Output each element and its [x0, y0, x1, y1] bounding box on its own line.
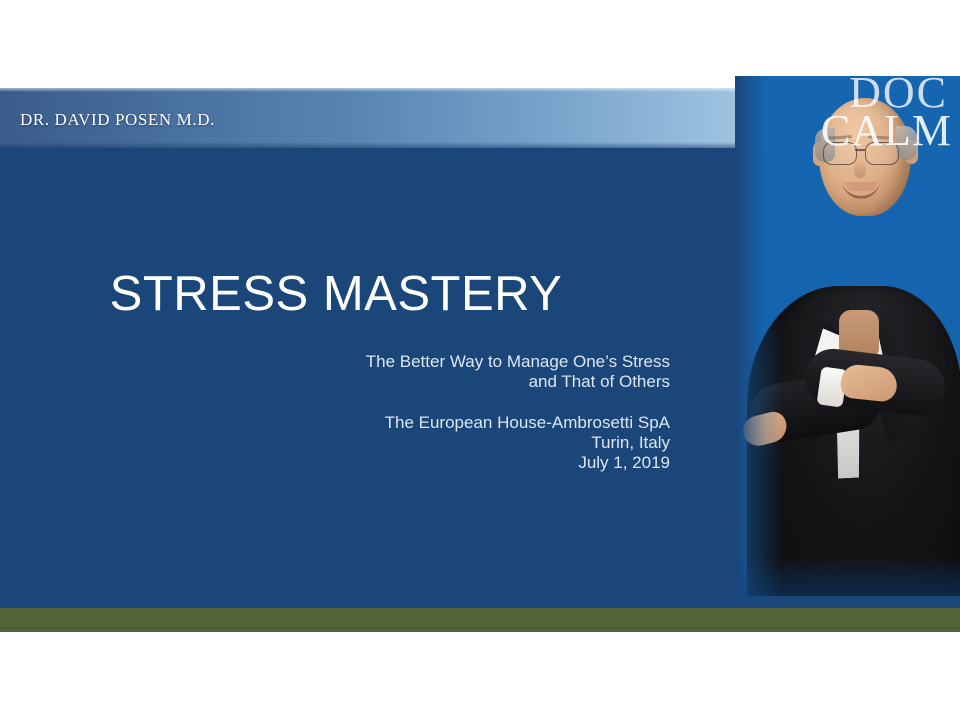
presentation-slide: DR. DAVID POSEN M.D. DOC CALM STRESS MAS… [0, 0, 960, 720]
presenter-photo [735, 76, 960, 596]
accent-bar-rule [0, 627, 960, 629]
photo-eyeglass-bridge [855, 149, 865, 151]
photo-eyeglass-lens-left [823, 142, 857, 165]
photo-bottom-edge-fade [735, 556, 960, 596]
photo-nose [854, 160, 866, 178]
photo-left-edge-fade [735, 76, 781, 596]
photo-hair-right [896, 126, 917, 160]
photo-eyeglass-lens-right [865, 142, 899, 165]
bottom-accent-bar [0, 608, 960, 632]
presenter-name: DR. DAVID POSEN M.D. [20, 110, 215, 130]
